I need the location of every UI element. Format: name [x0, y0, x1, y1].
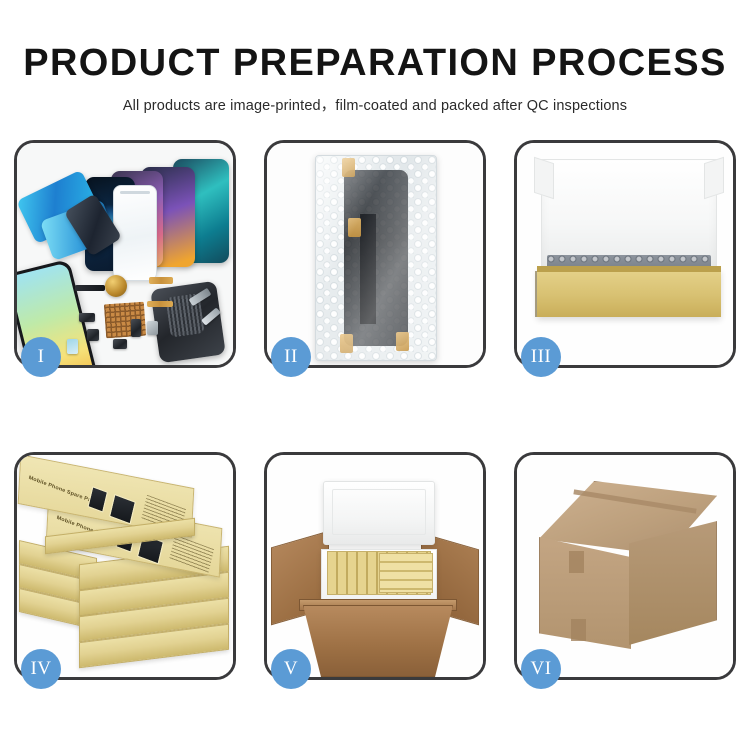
- phones-and-parts-scene: [17, 143, 233, 365]
- gold-tab-2-icon: [348, 218, 361, 237]
- step-badge-5: V: [271, 649, 311, 689]
- step-2-image: [267, 143, 483, 365]
- connector-strip-icon: [75, 285, 105, 291]
- vibrator-icon: [113, 339, 127, 349]
- wrapped-flex-cable: [360, 214, 376, 324]
- gold-flex-strip-2-icon: [147, 301, 173, 307]
- speaker-coil-icon: [105, 275, 127, 297]
- step-badge-6: VI: [521, 649, 561, 689]
- step-6-image: [517, 455, 733, 677]
- back-housing-icon: [150, 281, 226, 363]
- kraft-tray-icon: [537, 269, 721, 317]
- gold-tab-3-icon: [340, 334, 353, 353]
- stacked-boxes-scene: Mobile Phone Spare Parts Mobile Phone Sp…: [17, 455, 233, 677]
- gold-tab-4-icon: [396, 332, 409, 351]
- gold-flex-strip-icon: [149, 277, 173, 284]
- box-spec-lines-2: [169, 535, 214, 574]
- page-subtitle: All products are image-printed，film-coat…: [0, 94, 750, 115]
- small-screen-icon: [67, 339, 78, 354]
- carton-tape-top-icon: [569, 551, 584, 573]
- process-step-grid: I II: [14, 140, 736, 680]
- step-4-image: Mobile Phone Spare Parts Mobile Phone Sp…: [17, 455, 233, 677]
- step-badge-3: III: [521, 337, 561, 377]
- process-step-panel-2: II: [264, 140, 486, 368]
- chip-icon: [79, 313, 95, 322]
- process-step-panel-6: VI: [514, 452, 736, 680]
- kraft-boxes-inside-2-icon: [379, 553, 433, 593]
- bubble-wrap-bag-icon: [315, 155, 437, 361]
- step-badge-1: I: [21, 337, 61, 377]
- carton-body-icon: [303, 605, 453, 677]
- box-window-1b: [109, 494, 136, 525]
- wrapped-part: [344, 170, 408, 346]
- header: PRODUCT PREPARATION PROCESS All products…: [0, 0, 750, 115]
- open-kraft-box-scene: [517, 143, 733, 365]
- bubble-wrap-scene: [267, 143, 483, 365]
- page-title: PRODUCT PREPARATION PROCESS: [0, 44, 750, 82]
- process-step-panel-5: V: [264, 452, 486, 680]
- product-preparation-infographic: PRODUCT PREPARATION PROCESS All products…: [0, 0, 750, 750]
- process-step-panel-1: I: [14, 140, 236, 368]
- sealed-carton-scene: [517, 455, 733, 677]
- button-flex-icon: [131, 319, 141, 337]
- process-step-panel-3: III: [514, 140, 736, 368]
- step-5-image: [267, 455, 483, 677]
- step-badge-2: II: [271, 337, 311, 377]
- step-badge-4: IV: [21, 649, 61, 689]
- camera-module-icon: [87, 329, 99, 341]
- sim-tray-icon: [147, 321, 158, 335]
- carton-tape-bottom-icon: [571, 619, 586, 641]
- step-3-image: [517, 143, 733, 365]
- gold-tab-1-icon: [342, 158, 355, 177]
- carton-with-foam-scene: [267, 455, 483, 677]
- box-window-1a: [87, 486, 108, 513]
- step-1-image: [17, 143, 233, 365]
- process-step-panel-4: Mobile Phone Spare Parts Mobile Phone Sp…: [14, 452, 236, 680]
- foam-lid-icon: [323, 481, 435, 545]
